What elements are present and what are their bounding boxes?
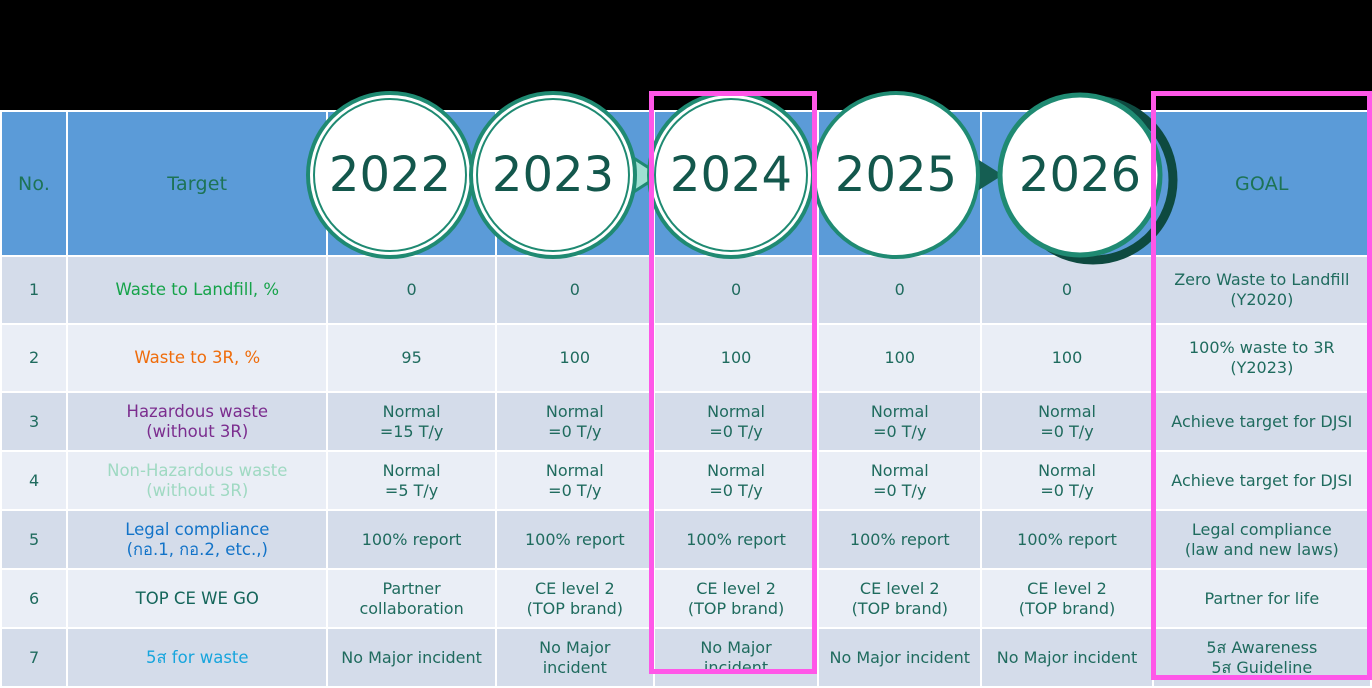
row-target-label: Waste to Landfill, % bbox=[68, 257, 326, 323]
cell-2023: 0 bbox=[497, 257, 653, 323]
cell-2026: CE level 2(TOP brand) bbox=[982, 570, 1151, 627]
header-year-2025 bbox=[819, 112, 980, 255]
header-year-2022 bbox=[328, 112, 494, 255]
cell-2023: CE level 2(TOP brand) bbox=[497, 570, 653, 627]
cell-2025: 100 bbox=[819, 325, 980, 391]
row-target-label: Waste to 3R, % bbox=[68, 325, 326, 391]
row-target-label: TOP CE WE GO bbox=[68, 570, 326, 627]
cell-2025: Normal=0 T/y bbox=[819, 393, 980, 450]
row-target-label: Legal compliance(กอ.1, กอ.2, etc.,) bbox=[68, 511, 326, 568]
cell-2026: 100% report bbox=[982, 511, 1151, 568]
row-number: 5 bbox=[2, 511, 66, 568]
row-number: 1 bbox=[2, 257, 66, 323]
row-number: 7 bbox=[2, 629, 66, 686]
header-target: Target bbox=[68, 112, 326, 255]
row-number: 6 bbox=[2, 570, 66, 627]
highlight-box-goal-column bbox=[1151, 91, 1372, 680]
cell-2022: Normal=5 T/y bbox=[328, 452, 494, 509]
cell-2025: 100% report bbox=[819, 511, 980, 568]
row-target-label: 5ส for waste bbox=[68, 629, 326, 686]
cell-2026: 0 bbox=[982, 257, 1151, 323]
cell-2023: 100 bbox=[497, 325, 653, 391]
header-year-2026 bbox=[982, 112, 1151, 255]
row-number: 3 bbox=[2, 393, 66, 450]
cell-2025: Normal=0 T/y bbox=[819, 452, 980, 509]
cell-2023: Normal=0 T/y bbox=[497, 393, 653, 450]
cell-2025: CE level 2(TOP brand) bbox=[819, 570, 980, 627]
cell-2023: Normal=0 T/y bbox=[497, 452, 653, 509]
cell-2026: No Major incident bbox=[982, 629, 1151, 686]
header-year-2023 bbox=[497, 112, 653, 255]
cell-2026: 100 bbox=[982, 325, 1151, 391]
cell-2022: No Major incident bbox=[328, 629, 494, 686]
highlight-box-2024-column bbox=[649, 91, 817, 674]
row-number: 4 bbox=[2, 452, 66, 509]
cell-2022: Normal=15 T/y bbox=[328, 393, 494, 450]
cell-2025: 0 bbox=[819, 257, 980, 323]
cell-2026: Normal=0 T/y bbox=[982, 452, 1151, 509]
cell-2022: 100% report bbox=[328, 511, 494, 568]
row-target-label: Non-Hazardous waste(without 3R) bbox=[68, 452, 326, 509]
cell-2022: Partnercollaboration bbox=[328, 570, 494, 627]
cell-2023: 100% report bbox=[497, 511, 653, 568]
header-no: No. bbox=[2, 112, 66, 255]
cell-2022: 95 bbox=[328, 325, 494, 391]
cell-2026: Normal=0 T/y bbox=[982, 393, 1151, 450]
row-target-label: Hazardous waste(without 3R) bbox=[68, 393, 326, 450]
row-number: 2 bbox=[2, 325, 66, 391]
cell-2022: 0 bbox=[328, 257, 494, 323]
cell-2025: No Major incident bbox=[819, 629, 980, 686]
cell-2023: No Majorincident bbox=[497, 629, 653, 686]
